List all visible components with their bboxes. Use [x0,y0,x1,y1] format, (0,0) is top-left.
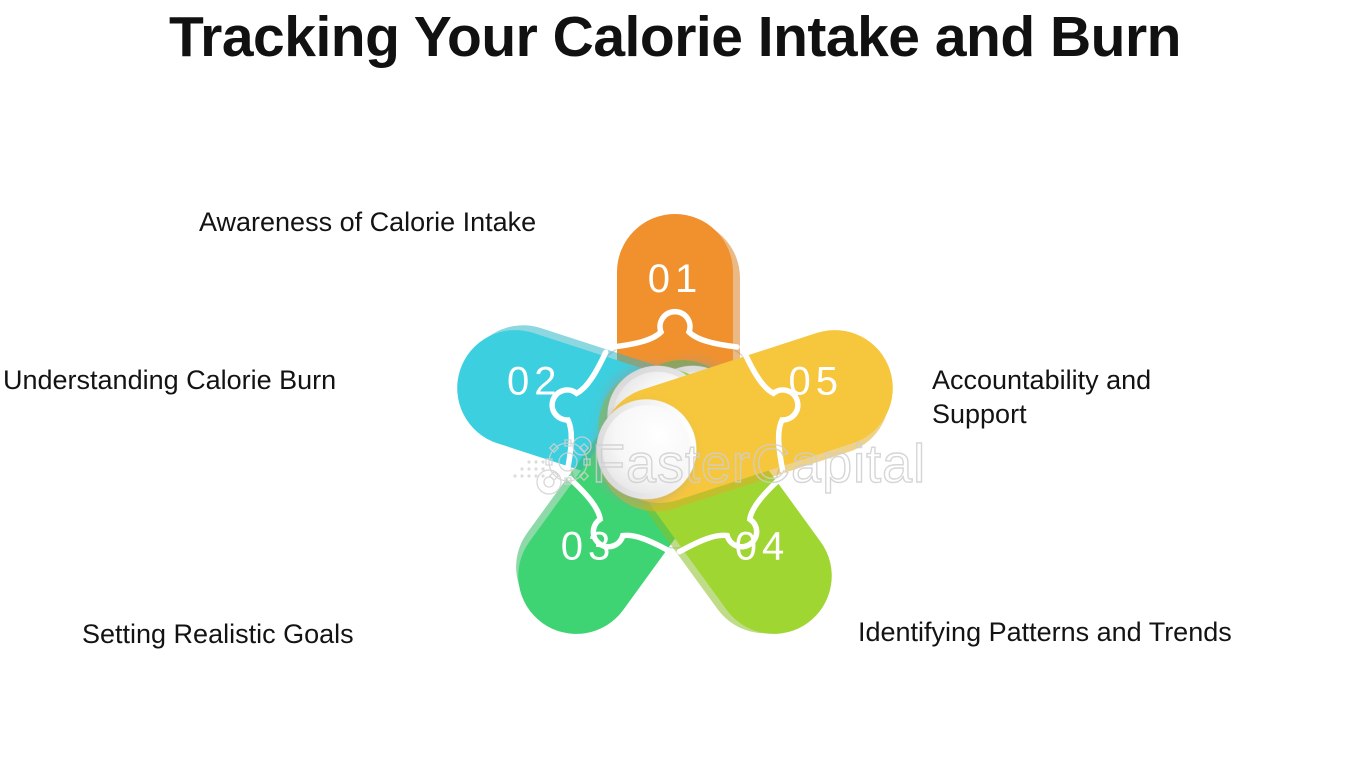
watermark-text: FasterCapital [592,434,926,494]
segment-03-number: 03 [561,525,616,569]
radial-puzzle-diagram: 01 02 [0,0,1350,759]
segment-03-label: Setting Realistic Goals [82,617,462,651]
segment-02-number: 02 [507,359,562,403]
segment-01-label: Awareness of Calorie Intake [199,205,569,239]
segment-05-number: 05 [789,359,844,403]
segment-04-number: 04 [735,525,790,569]
segment-04-label: Identifying Patterns and Trends [858,615,1258,649]
segment-05-label: Accountability and Support [932,363,1252,431]
segment-01-number: 01 [648,257,703,301]
segment-02-label: Understanding Calorie Burn [3,363,375,397]
